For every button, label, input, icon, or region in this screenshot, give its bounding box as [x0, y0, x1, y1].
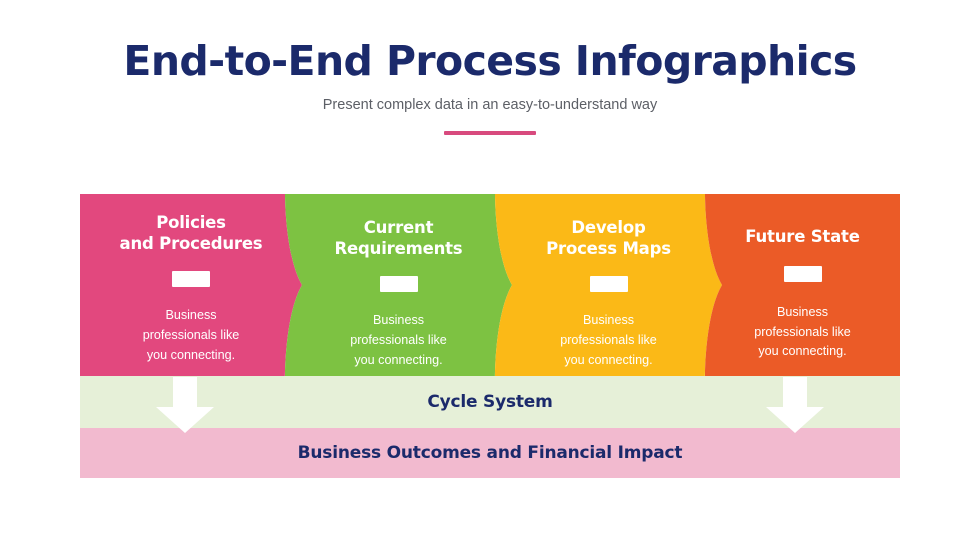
process-step-title: Develop Process Maps [546, 217, 671, 259]
process-step-chip [380, 276, 418, 292]
process-step-title: Future State [745, 226, 860, 247]
cycle-system-label: Cycle System [427, 392, 552, 412]
arrow-down-icon [154, 377, 216, 433]
process-step-chip [784, 266, 822, 282]
header: End-to-End Process Infographics Present … [0, 0, 980, 135]
process-step-title: Current Requirements [335, 217, 463, 259]
process-step-description: Business professionals like you connecti… [754, 303, 851, 362]
arrow-down-icon [764, 377, 826, 433]
process-step-future-state[interactable]: Future State Business professionals like… [705, 194, 900, 376]
process-step-current-requirements[interactable]: Current Requirements Business profession… [285, 194, 512, 376]
process-step-chip [172, 271, 210, 287]
process-step-develop-process-maps[interactable]: Develop Process Maps Business profession… [495, 194, 722, 376]
page-subtitle: Present complex data in an easy-to-under… [0, 85, 980, 113]
process-step-description: Business professionals like you connecti… [143, 306, 240, 365]
title-divider [444, 131, 536, 135]
process-step-policies-and-procedures[interactable]: Policies and Procedures Business profess… [80, 194, 302, 376]
business-outcomes-band: Business Outcomes and Financial Impact [80, 428, 900, 478]
process-step-description: Business professionals like you connecti… [350, 311, 447, 370]
process-step-title: Policies and Procedures [120, 212, 263, 254]
process-strip: Policies and Procedures Business profess… [80, 194, 900, 376]
process-step-chip [590, 276, 628, 292]
page-title: End-to-End Process Infographics [0, 0, 980, 85]
process-step-description: Business professionals like you connecti… [560, 311, 657, 370]
business-outcomes-label: Business Outcomes and Financial Impact [298, 443, 683, 463]
